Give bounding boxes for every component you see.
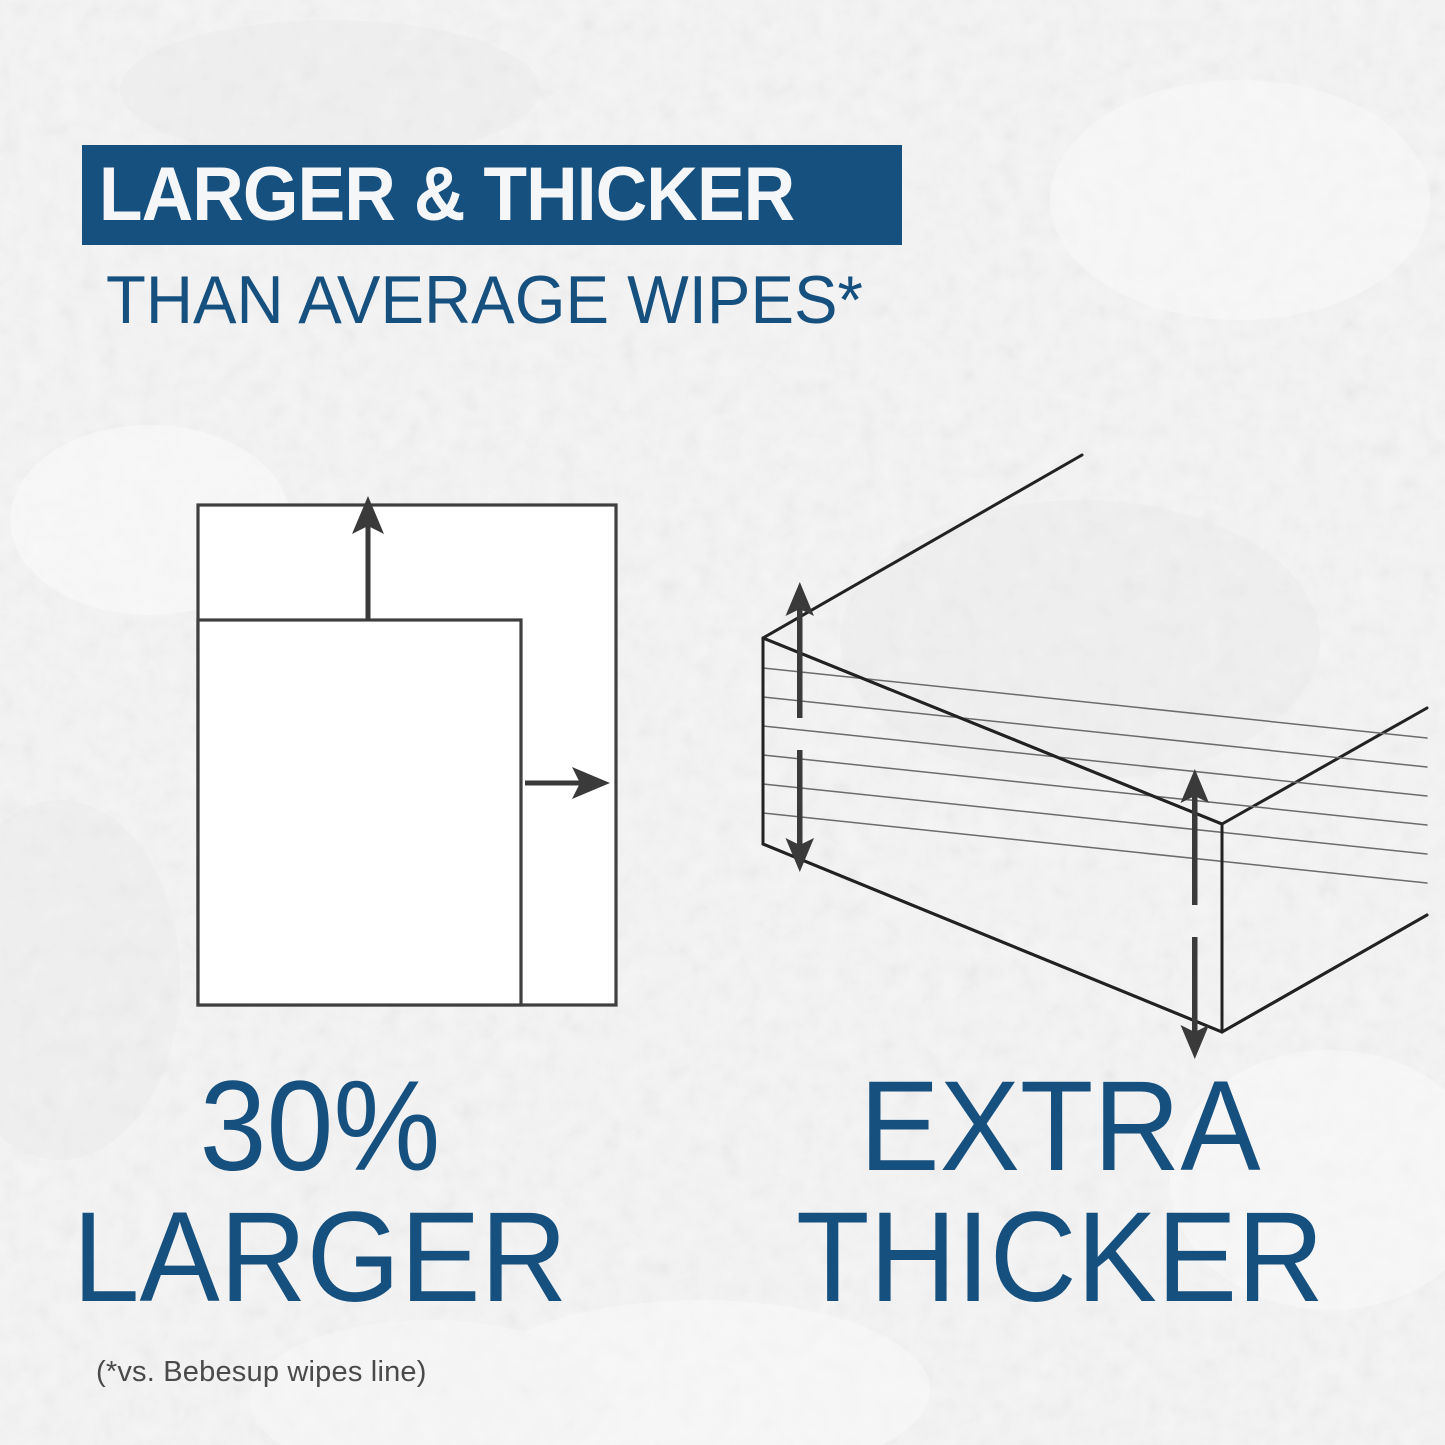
size-caption-line2: LARGER [19, 1193, 621, 1324]
product-infographic: LARGER & THICKER THAN AVERAGE WIPES* [0, 0, 1445, 1445]
thickness-stack-diagram [730, 420, 1445, 1060]
stack-sheet-lines [763, 668, 1427, 883]
stack-top-surface [763, 455, 1427, 824]
average-wipe-rect [198, 620, 521, 1005]
headline-banner: LARGER & THICKER [82, 145, 902, 245]
subheadline-label: THAN AVERAGE WIPES* [106, 266, 863, 334]
thickness-caption-line1: EXTRA [859, 1055, 1260, 1198]
thickness-caption: EXTRA THICKER [778, 1062, 1342, 1323]
headline-banner-label: LARGER & THICKER [82, 157, 794, 233]
footnote-label: (*vs. Bebesup wipes line) [96, 1356, 427, 1389]
stack-left-face [763, 638, 1222, 1032]
size-caption-line1: 30% [200, 1055, 441, 1198]
size-caption: 30% LARGER [19, 1062, 621, 1323]
thickness-caption-line2: THICKER [778, 1193, 1342, 1324]
size-comparison-diagram [180, 480, 650, 1040]
stack-outline-overdraw [763, 638, 1427, 1032]
up-down-arrow-left-face [786, 582, 815, 872]
